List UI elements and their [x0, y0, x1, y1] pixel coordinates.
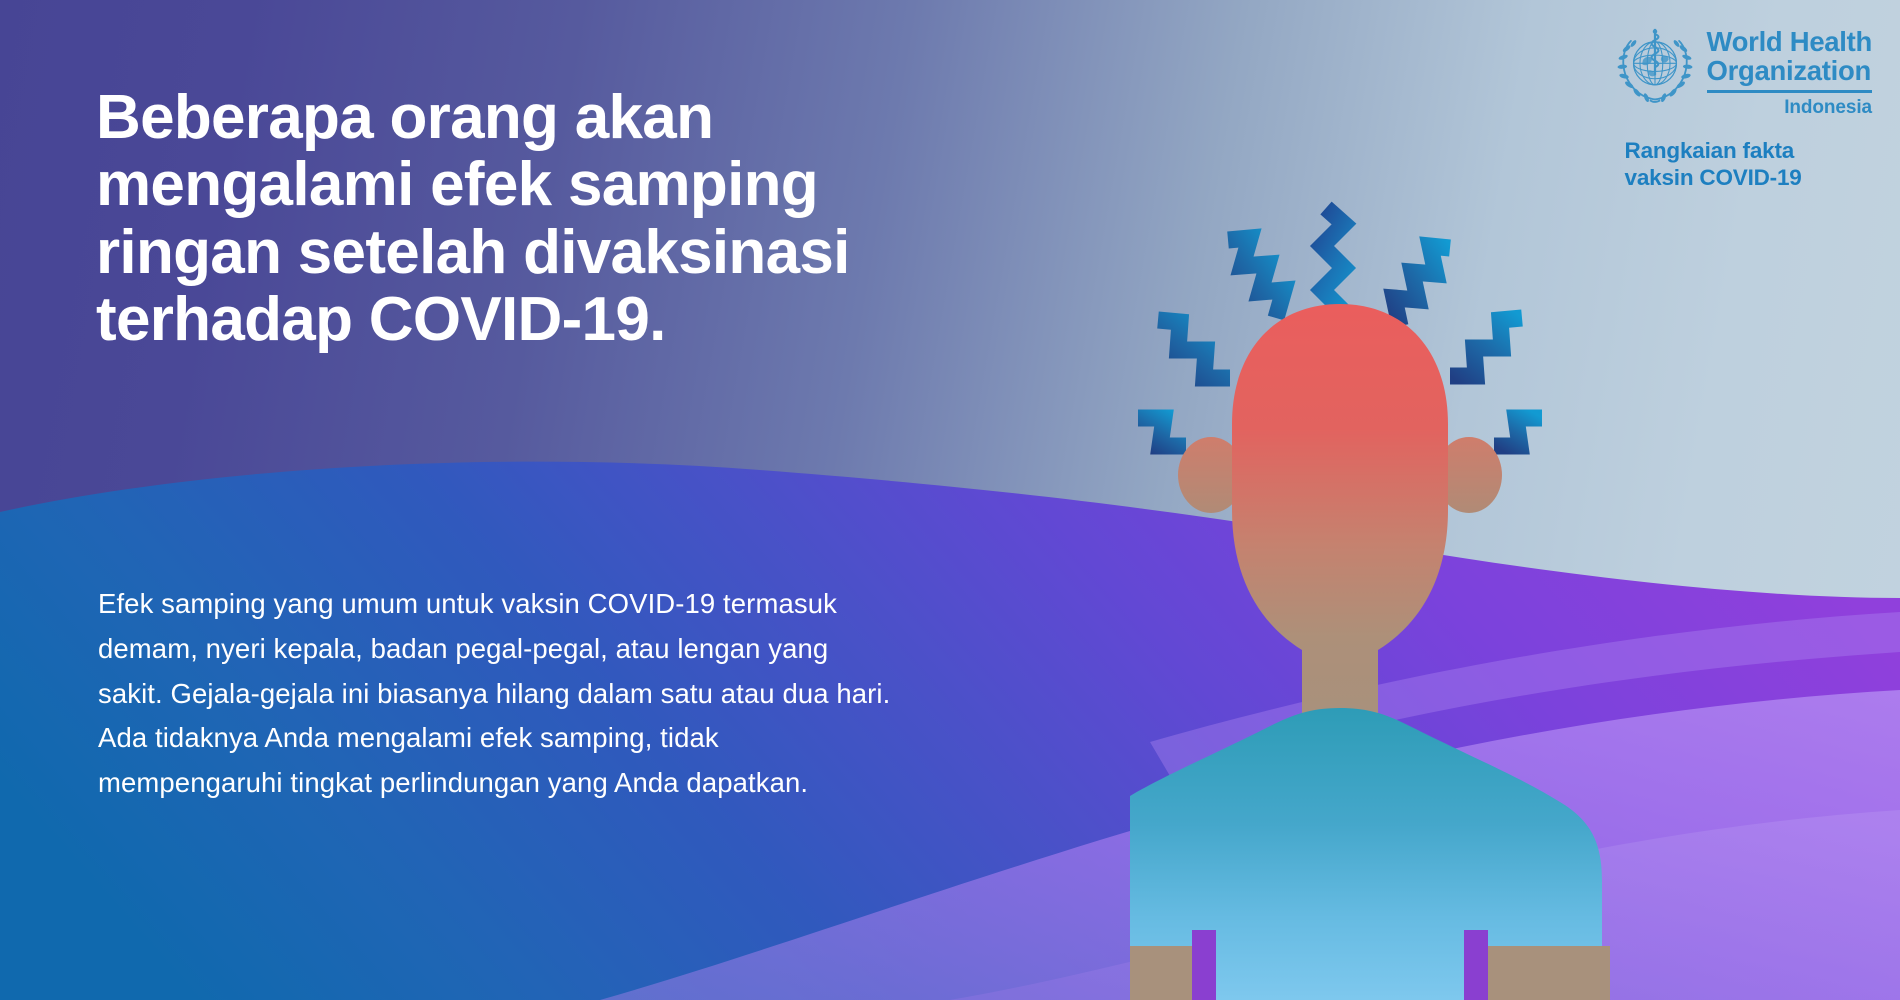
body-paragraph: Efek samping yang umum untuk vaksin COVI… [98, 582, 1098, 806]
arm-left [1130, 946, 1192, 1000]
pain-ray-low-left [1138, 418, 1186, 446]
who-un-globe-laurel-asclepius-emblem [1612, 22, 1698, 108]
person-with-headache-illustration [1130, 180, 1900, 1000]
head-and-neck [1232, 304, 1448, 720]
pain-ray-low-right [1494, 418, 1542, 446]
pain-ray-upper-left [1228, 238, 1284, 318]
body-line-4: Ada tidaknya Anda mengalami efek samping… [98, 722, 719, 753]
headline-line-1: Beberapa orang akan [96, 83, 713, 152]
who-line-1: World Health [1707, 28, 1872, 57]
arm-right [1488, 946, 1610, 1000]
body-line-1: Efek samping yang umum untuk vaksin COVI… [98, 588, 837, 619]
sleeve-gap-left [1192, 930, 1216, 1000]
who-divider-rule [1707, 90, 1872, 93]
headline-line-4: terhadap COVID-19. [96, 285, 666, 354]
page-title: Beberapa orang akan mengalami efek sampi… [96, 84, 1106, 353]
headline-line-2: mengalami efek samping [96, 150, 818, 219]
pain-ray-upper-right [1394, 246, 1450, 326]
who-country-label: Indonesia [1784, 97, 1872, 119]
infographic-poster: Beberapa orang akan mengalami efek sampi… [0, 0, 1900, 1000]
body-line-5: mempengaruhi tingkat perlindungan yang A… [98, 767, 808, 798]
headline-line-3: ringan setelah divaksinasi [96, 218, 850, 287]
pain-ray-mid-right [1450, 318, 1522, 376]
who-wordmark: World Health Organization Indonesia [1707, 22, 1872, 119]
body-line-3: sakit. Gejala-gejala ini biasanya hilang… [98, 678, 890, 709]
sleeve-gap-right [1464, 930, 1488, 1000]
who-logo-block: World Health Organization Indonesia Rang… [1612, 22, 1872, 191]
body-line-2: demam, nyeri kepala, badan pegal-pegal, … [98, 633, 828, 664]
pain-ray-mid-left [1158, 320, 1230, 378]
who-line-2: Organization [1707, 57, 1871, 86]
series-line-1: Rangkaian fakta [1625, 138, 1872, 164]
who-logo-row: World Health Organization Indonesia [1612, 22, 1872, 119]
